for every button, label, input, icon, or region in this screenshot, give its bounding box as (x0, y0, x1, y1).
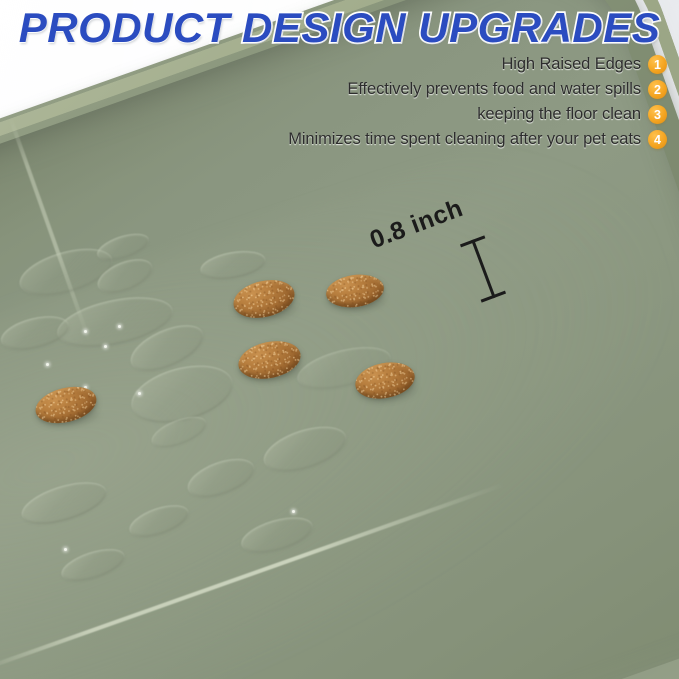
feature-item: Effectively prevents food and water spil… (347, 78, 667, 101)
feature-label: High Raised Edges (501, 55, 641, 74)
droplet-highlight (84, 330, 87, 333)
feature-label: Minimizes time spent cleaning after your… (288, 130, 641, 149)
page-title: PRODUCT DESIGN UPGRADES (0, 4, 679, 52)
droplet-highlight (46, 363, 49, 366)
feature-label: Effectively prevents food and water spil… (347, 80, 641, 99)
feature-item: keeping the floor clean 3 (477, 103, 667, 126)
feature-number-badge: 2 (648, 80, 667, 99)
feature-item: Minimizes time spent cleaning after your… (288, 128, 667, 151)
feature-number-badge: 4 (648, 130, 667, 149)
droplet-highlight (138, 392, 141, 395)
droplet-highlight (104, 345, 107, 348)
feature-number-badge: 1 (648, 55, 667, 74)
feature-label: keeping the floor clean (477, 105, 641, 124)
droplet-highlight (292, 510, 295, 513)
feature-item: High Raised Edges 1 (501, 53, 667, 76)
product-image-stage: 0.8 inch PRODUCT DESIGN UPGRADES High Ra… (0, 0, 679, 679)
feature-list: High Raised Edges 1 Effectively prevents… (288, 53, 667, 151)
feature-number-badge: 3 (648, 105, 667, 124)
droplet-highlight (118, 325, 121, 328)
droplet-highlight (64, 548, 67, 551)
